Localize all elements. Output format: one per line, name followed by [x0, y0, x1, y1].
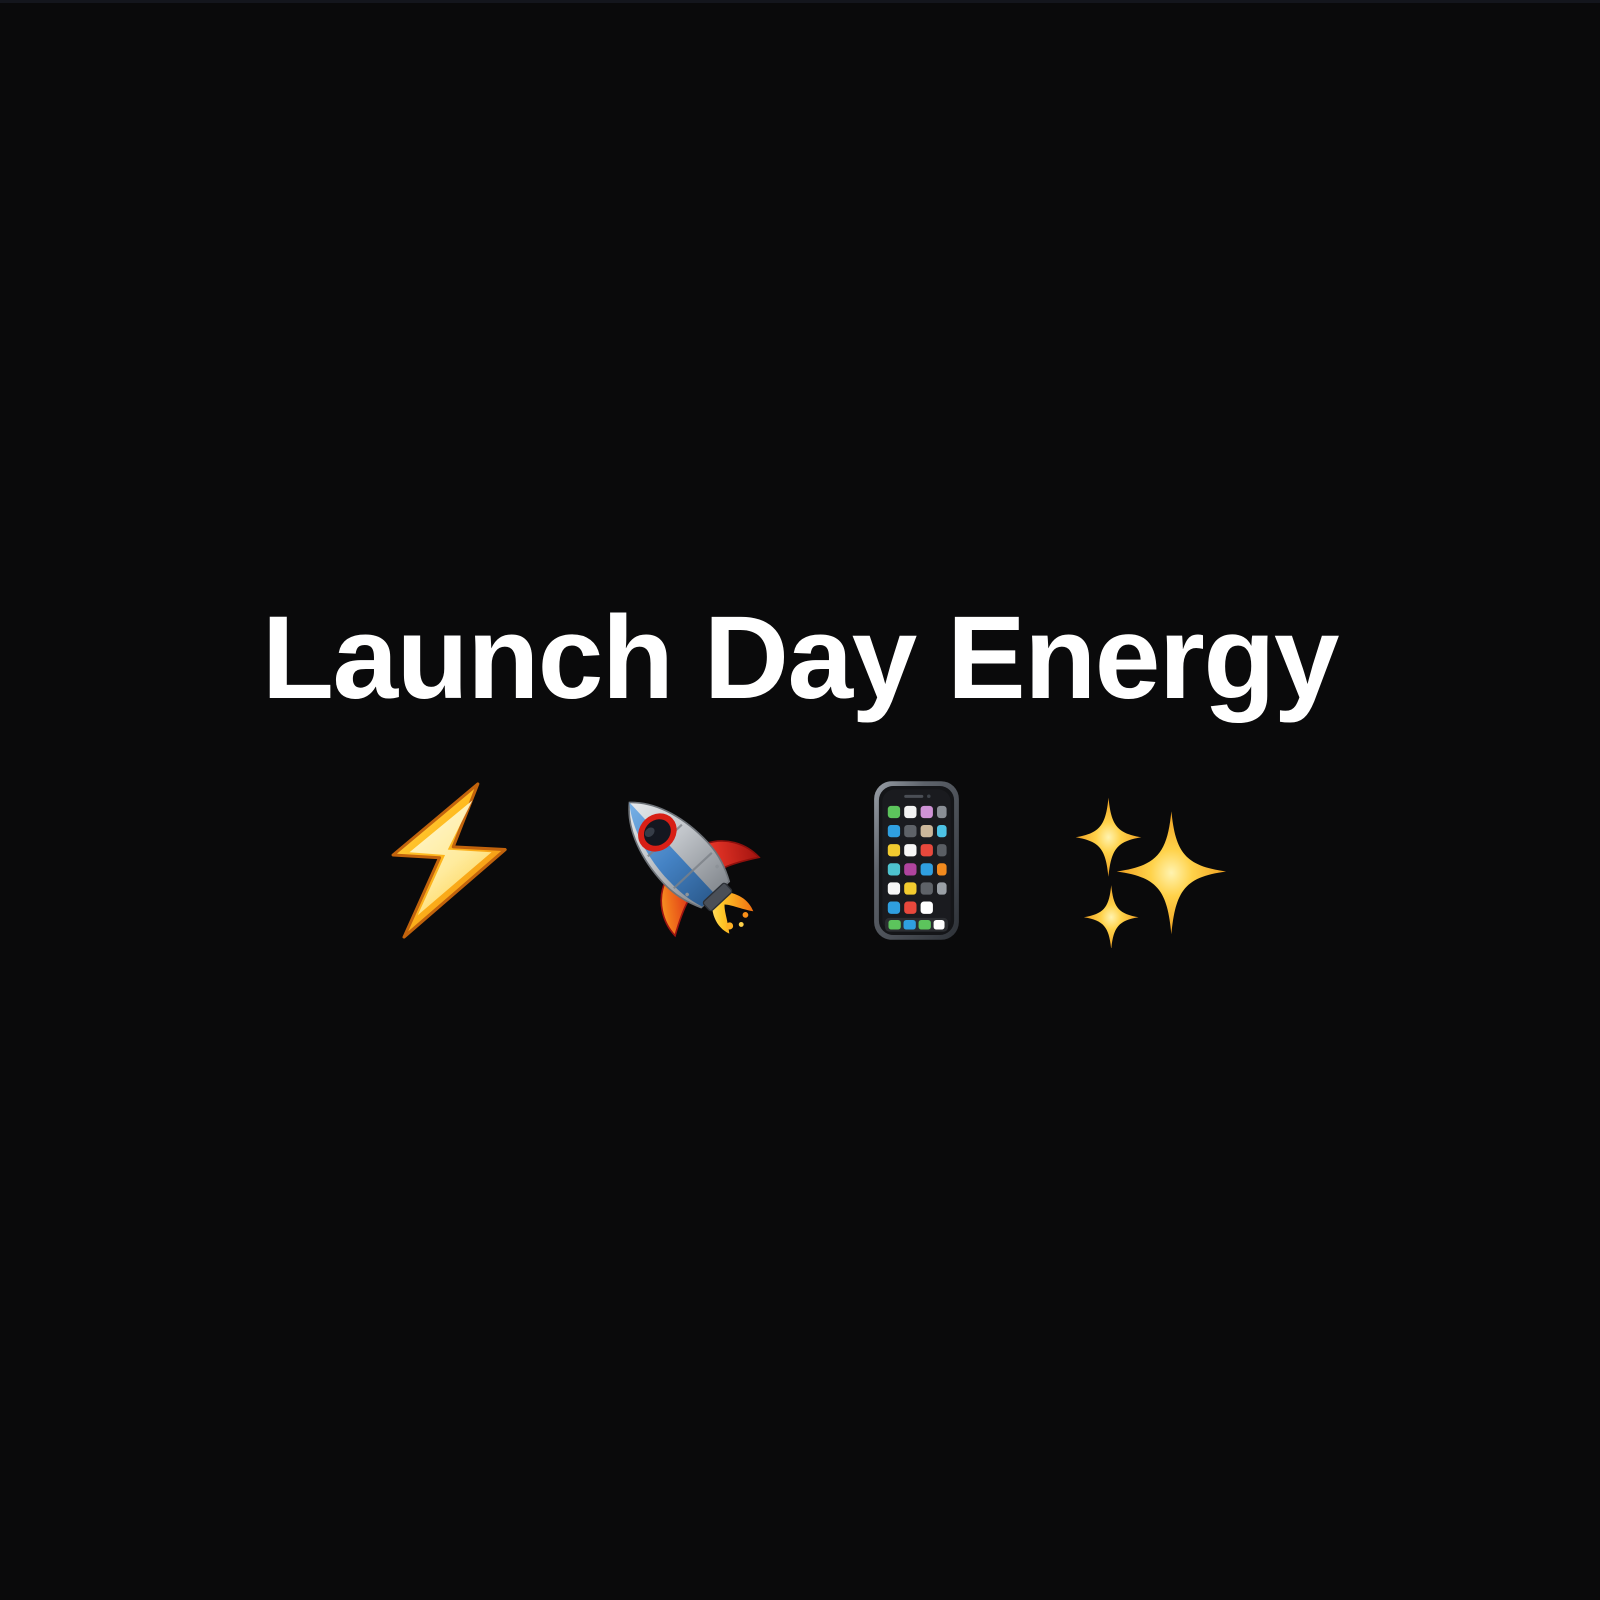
sparkles-icon: [1062, 773, 1237, 948]
high-voltage-icon: [363, 773, 538, 948]
poster-canvas: Launch Day Energy: [0, 0, 1600, 1600]
content-stage: Launch Day Energy: [0, 596, 1600, 948]
mobile-phone-icon: [829, 773, 1004, 948]
rocket-icon: [596, 773, 771, 948]
page-title: Launch Day Energy: [262, 596, 1338, 721]
emoji-row: [363, 773, 1237, 948]
canvas-top-edge: [0, 0, 1600, 3]
